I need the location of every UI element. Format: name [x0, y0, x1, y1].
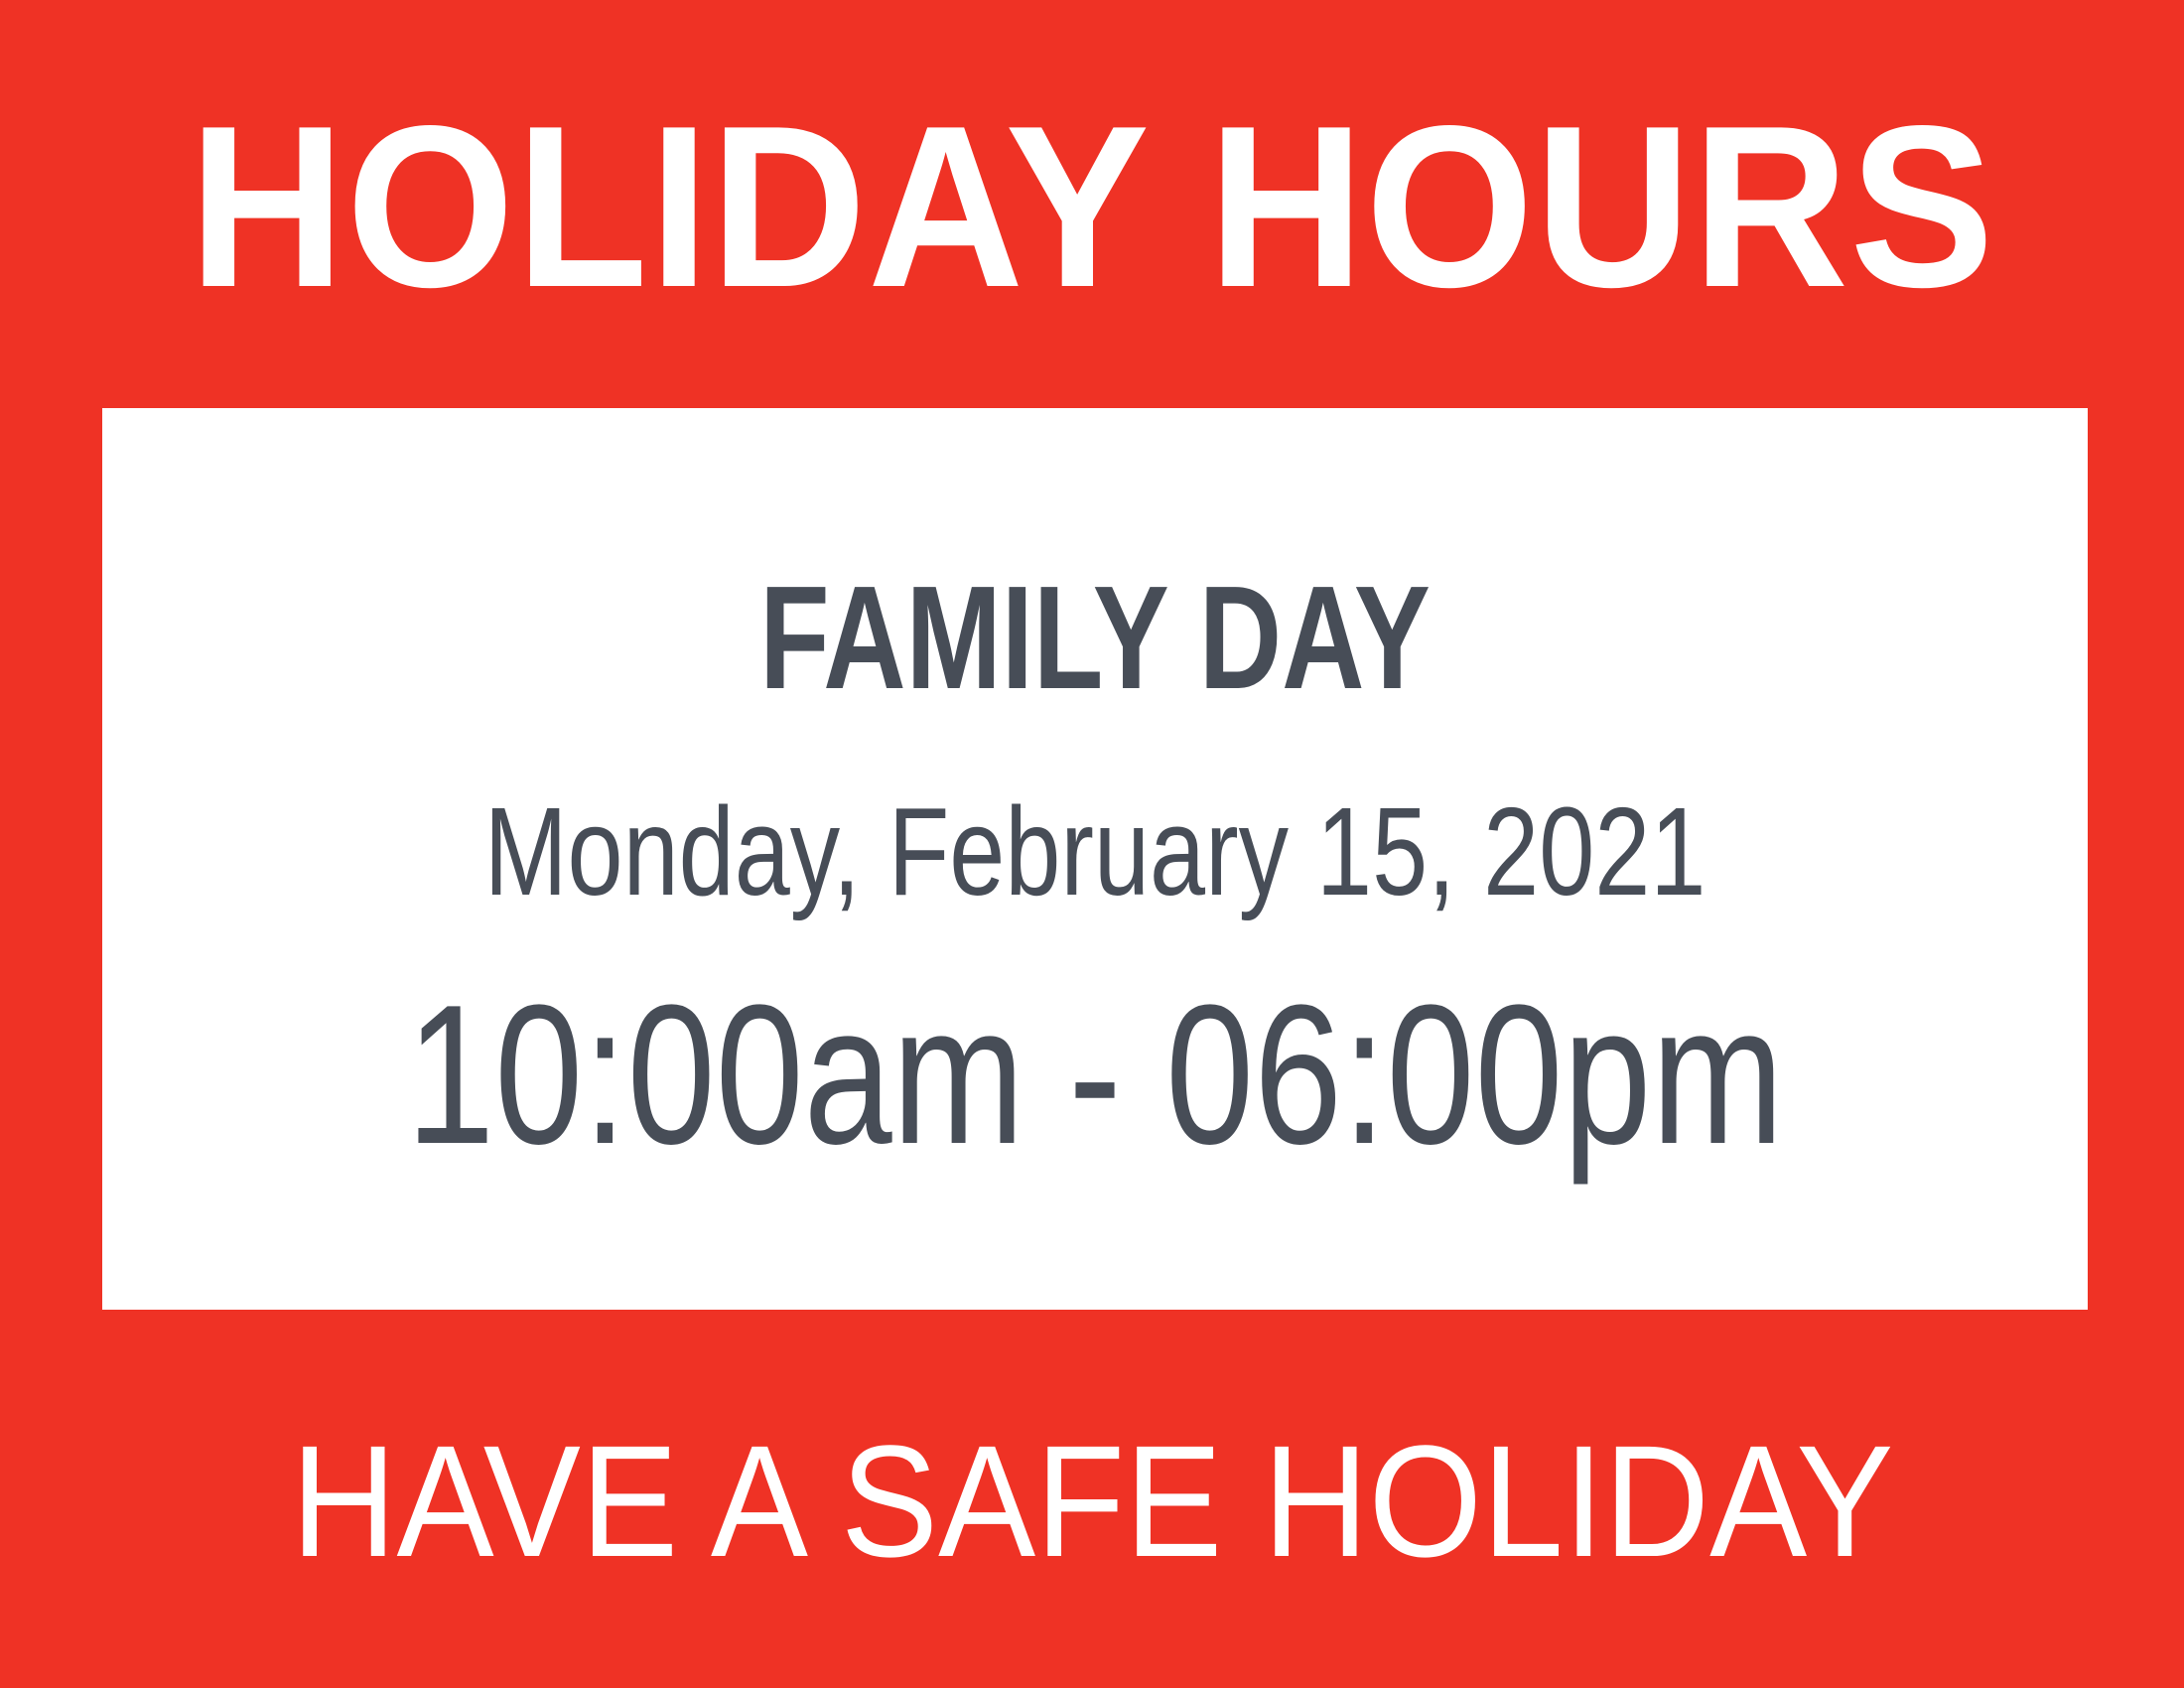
- hours-card: FAMILY DAY Monday, February 15, 2021 10:…: [102, 408, 2088, 1310]
- holiday-date: Monday, February 15, 2021: [301, 712, 1889, 914]
- footer-band: HAVE A SAFE HOLIDAY: [0, 1310, 2184, 1688]
- holiday-hours-sign: HOLIDAY HOURS FAMILY DAY Monday, Februar…: [0, 0, 2184, 1688]
- page-title: HOLIDAY HOURS: [189, 92, 1995, 323]
- hours-card-content: FAMILY DAY Monday, February 15, 2021 10:…: [102, 408, 2088, 1175]
- holiday-hours-range: 10:00am - 06:00pm: [301, 914, 1889, 1175]
- holiday-name: FAMILY DAY: [321, 408, 1869, 712]
- footer-message: HAVE A SAFE HOLIDAY: [291, 1422, 1893, 1581]
- headline-band: HOLIDAY HOURS: [0, 0, 2184, 408]
